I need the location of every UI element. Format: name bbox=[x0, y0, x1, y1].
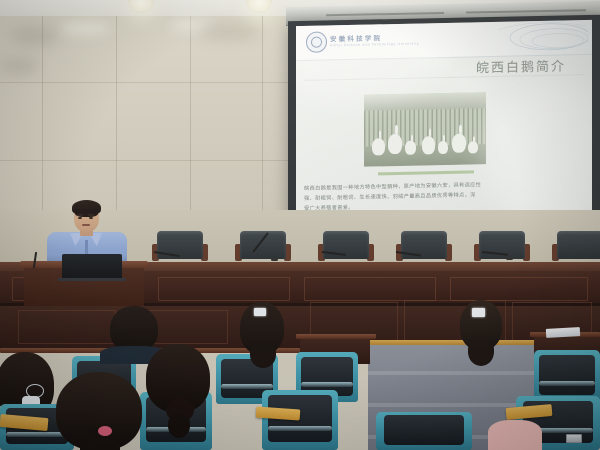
hair-scrunchie-icon bbox=[98, 426, 112, 436]
lecture-hall-photo: 安徽科技学院 Anhui Science and Technology Univ… bbox=[0, 0, 600, 450]
goose bbox=[438, 141, 448, 154]
dais-panel-inset bbox=[304, 277, 436, 301]
microphone-base bbox=[506, 257, 513, 260]
dais-panel-inset bbox=[158, 277, 290, 301]
speaker-eye bbox=[89, 217, 93, 219]
speaker-hair bbox=[72, 200, 101, 215]
audience-person bbox=[146, 344, 210, 412]
executive-chair bbox=[474, 231, 530, 265]
audience-person bbox=[240, 302, 284, 354]
executive-chair bbox=[152, 231, 208, 265]
microphone-base bbox=[271, 258, 278, 261]
projection-screen: 安徽科技学院 Anhui Science and Technology Univ… bbox=[288, 15, 600, 227]
goose bbox=[452, 134, 466, 153]
seat-number-plate bbox=[566, 434, 582, 443]
executive-chair bbox=[396, 231, 452, 265]
goose bbox=[422, 136, 435, 154]
goose bbox=[388, 134, 402, 154]
audience-person bbox=[488, 420, 542, 450]
goose bbox=[468, 141, 478, 153]
partition-panel bbox=[18, 310, 116, 344]
laptop-hinge bbox=[58, 278, 126, 281]
slide-accent-bar bbox=[378, 170, 474, 175]
auditorium-seat[interactable] bbox=[262, 390, 338, 450]
speaker-mouth bbox=[82, 224, 90, 226]
executive-chair bbox=[552, 231, 600, 265]
hair-clip-icon bbox=[254, 308, 266, 316]
goose bbox=[405, 141, 416, 155]
speaker-eyebrow bbox=[88, 214, 94, 216]
speaker-eyebrow bbox=[77, 214, 83, 216]
auditorium-seat[interactable] bbox=[534, 350, 600, 402]
wall-smudge bbox=[10, 26, 58, 46]
auditorium-seat[interactable] bbox=[376, 412, 472, 450]
speaker-eye bbox=[78, 217, 82, 219]
papers-on-desk bbox=[546, 327, 580, 338]
wall-smudge bbox=[196, 24, 260, 40]
slide-decorative-arcs bbox=[496, 20, 588, 55]
wall-smudge bbox=[0, 58, 40, 74]
presenter-laptop bbox=[62, 254, 122, 280]
executive-chair bbox=[318, 231, 374, 265]
slide-photo-geese bbox=[364, 92, 486, 167]
audience-person bbox=[460, 300, 502, 350]
projection-surface: 安徽科技学院 Anhui Science and Technology Univ… bbox=[296, 20, 592, 221]
audience-person bbox=[56, 372, 142, 450]
goose bbox=[372, 138, 385, 155]
aisle-desk-left-cap bbox=[296, 334, 376, 339]
executive-chair bbox=[235, 231, 291, 265]
slide-title: 皖西白鹅简介 bbox=[476, 55, 566, 76]
wall-sheen bbox=[60, 22, 110, 34]
dais-panel-inset bbox=[450, 277, 588, 301]
rhinestone-hair-clip-icon bbox=[472, 308, 485, 317]
